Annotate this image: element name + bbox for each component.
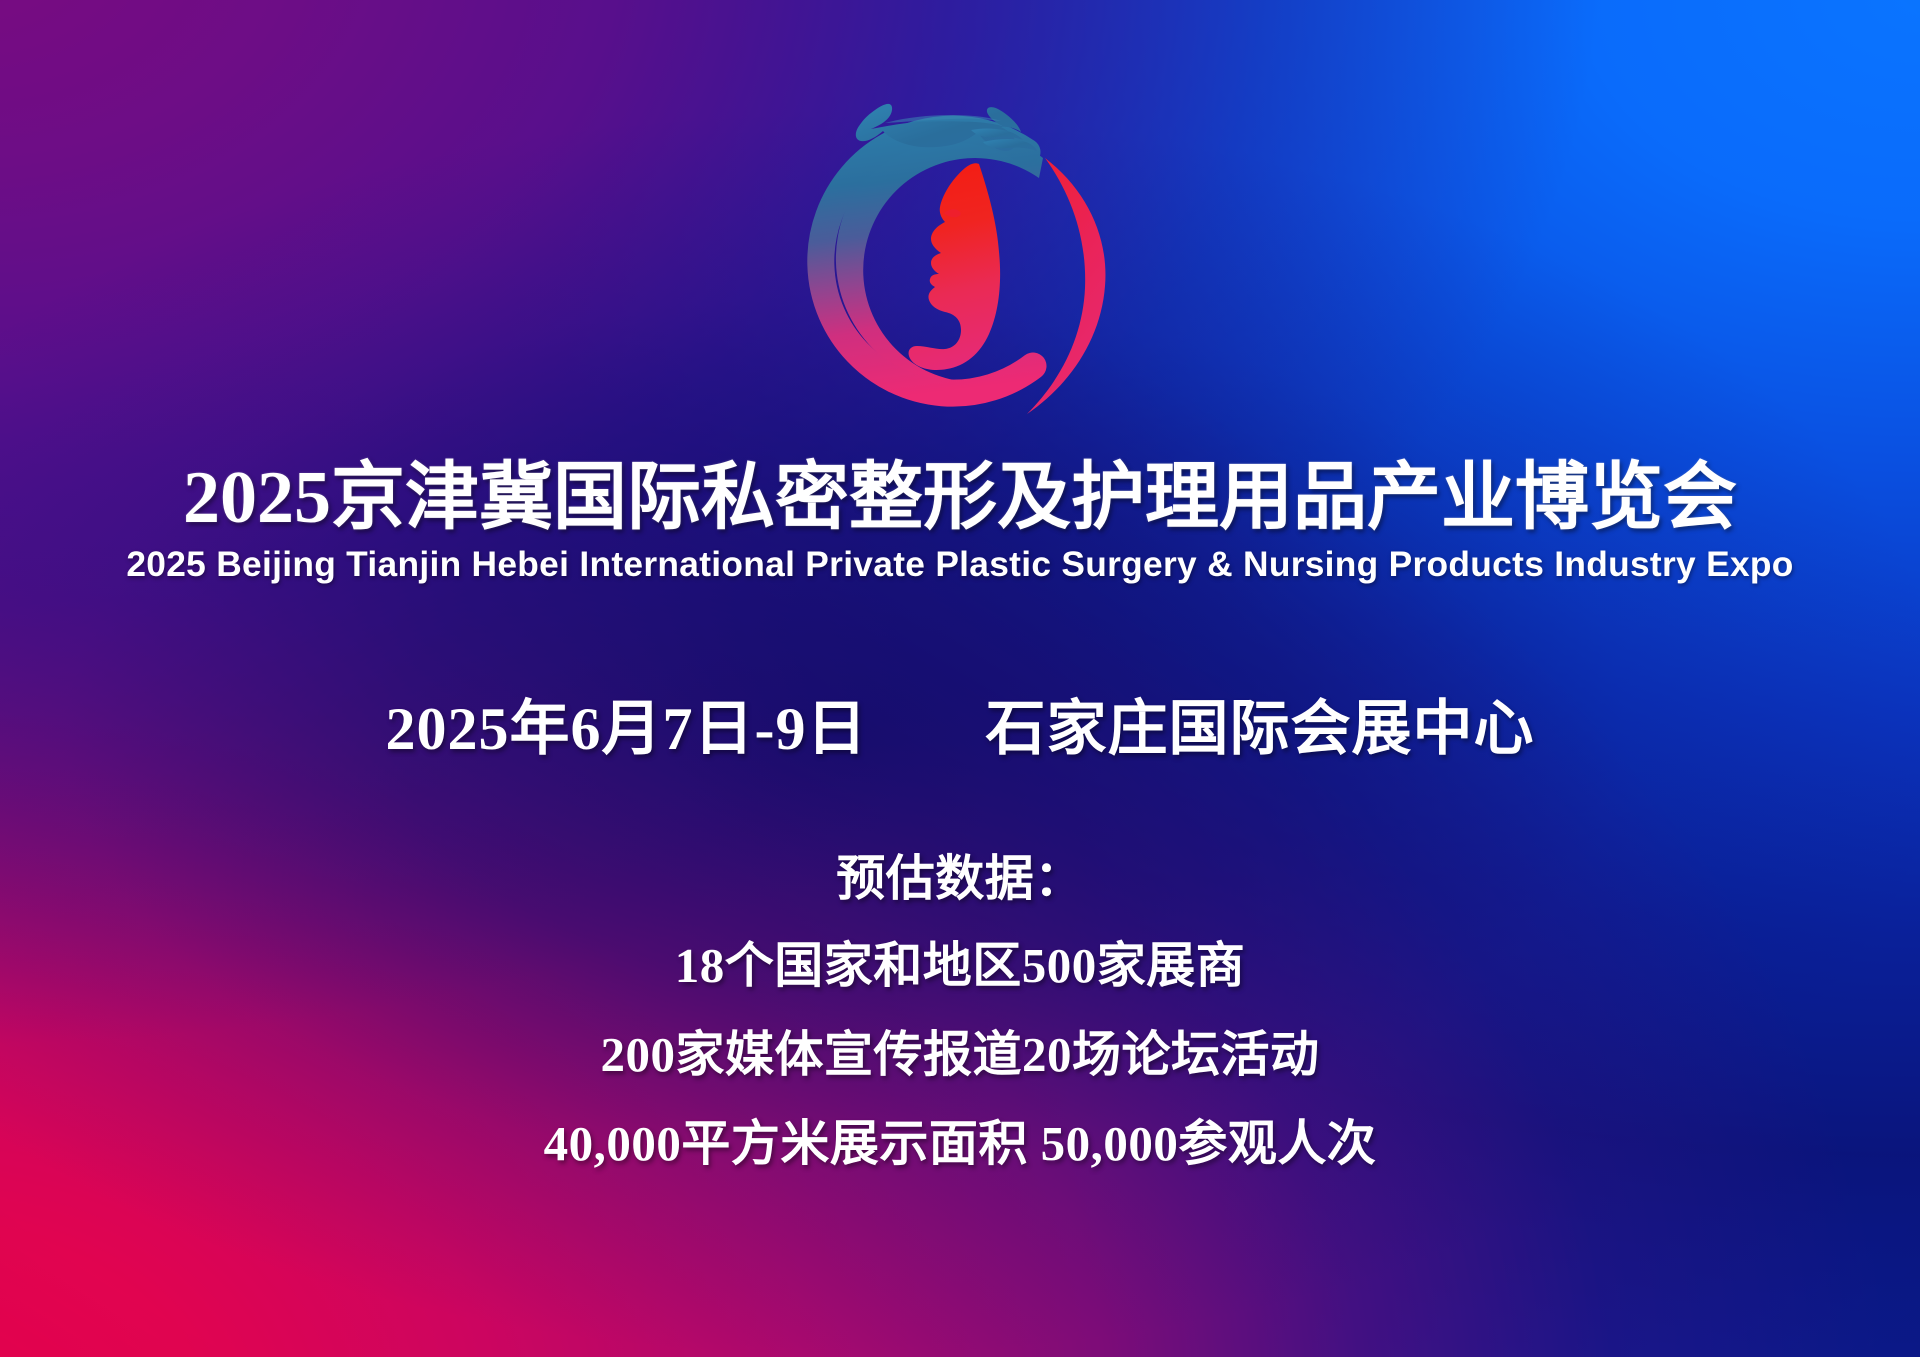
poster-content: 2025京津冀国际私密整形及护理用品产业博览会 2025 Beijing Tia… xyxy=(0,0,1920,1357)
stats-line-exhibitors: 18个国家和地区500家展商 xyxy=(544,941,1377,990)
stats-line-media: 200家媒体宣传报道20场论坛活动 xyxy=(544,1030,1377,1079)
title-block: 2025京津冀国际私密整形及护理用品产业博览会 2025 Beijing Tia… xyxy=(0,460,1920,584)
page-title-chinese: 2025京津冀国际私密整形及护理用品产业博览会 xyxy=(0,460,1920,538)
expo-poster: 2025京津冀国际私密整形及护理用品产业博览会 2025 Beijing Tia… xyxy=(0,0,1920,1357)
stats-block: 预估数据： 18个国家和地区500家展商 200家媒体宣传报道20场论坛活动 4… xyxy=(544,854,1377,1168)
event-date: 2025年6月7日-9日 xyxy=(386,696,868,762)
logo-face-profile xyxy=(909,163,1001,370)
page-title-english: 2025 Beijing Tianjin Hebei International… xyxy=(5,545,1915,584)
event-venue: 石家庄国际会展中心 xyxy=(985,696,1534,762)
date-venue-row: 2025年6月7日-9日 石家庄国际会展中心 xyxy=(386,696,1535,762)
stats-line-area-visitors: 40,000平方米展示面积 50,000参观人次 xyxy=(544,1119,1377,1168)
stats-heading: 预估数据： xyxy=(544,854,1377,903)
expo-logo xyxy=(775,66,1145,466)
